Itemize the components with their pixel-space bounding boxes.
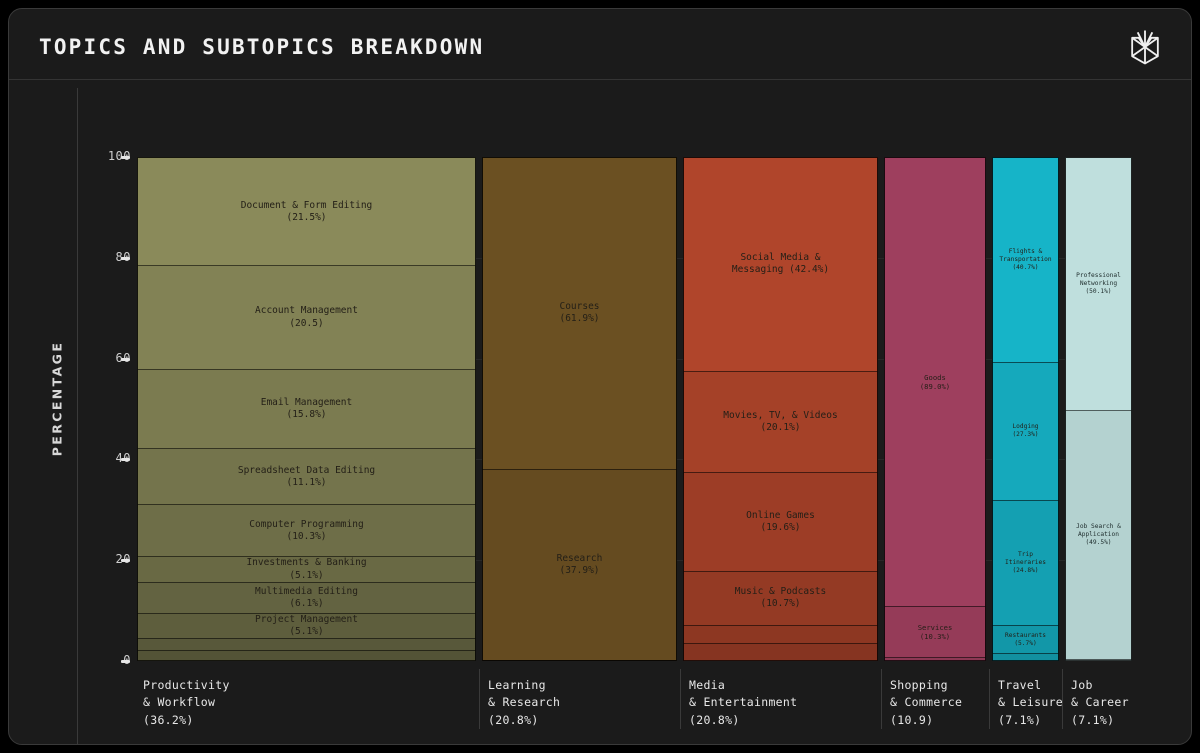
x-category-label: Media & Entertainment (20.8%) [689, 677, 797, 729]
chart-segment[interactable]: Job Search & Application (49.5%) [1065, 410, 1132, 659]
chart-segment[interactable]: Movies, TV, & Videos (20.1%) [683, 371, 878, 472]
chart-segment[interactable]: Music & Podcasts (10.7%) [683, 571, 878, 625]
segment-label: Trip Itineraries (24.8%) [1002, 551, 1049, 575]
chart-segment[interactable]: Professional Networking (50.1%) [1065, 157, 1132, 410]
chart-column[interactable]: Goods (89.0%)Services (10.3%) [884, 157, 986, 661]
segment-label: Computer Programming (10.3%) [246, 519, 366, 543]
x-category-label: Productivity & Workflow (36.2%) [143, 677, 230, 729]
segment-label: Lodging (27.3%) [1009, 423, 1041, 439]
chart-segment[interactable]: Restaurants (5.7%) [992, 625, 1059, 654]
chart-segment[interactable]: Project Management (5.1%) [137, 613, 476, 639]
segment-label: Social Media & Messaging (42.4%) [729, 252, 832, 276]
chart-segment[interactable] [137, 638, 476, 650]
x-category-label: Shopping & Commerce (10.9) [890, 677, 962, 729]
segment-label: Online Games (19.6%) [743, 510, 818, 534]
y-tick-mark [121, 458, 130, 461]
chart-segment[interactable]: Email Management (15.8%) [137, 369, 476, 449]
chart-segment[interactable]: Goods (89.0%) [884, 157, 986, 606]
chart-segment[interactable]: Services (10.3%) [884, 606, 986, 658]
chart-segment[interactable]: Lodging (27.3%) [992, 362, 1059, 500]
segment-label: Spreadsheet Data Editing (11.1%) [235, 465, 378, 489]
x-category-label: Job & Career (7.1%) [1071, 677, 1129, 729]
y-tick-mark [121, 358, 130, 361]
y-tick-mark [121, 156, 130, 159]
chart-segment[interactable] [482, 660, 677, 661]
chart-segment[interactable]: Flights & Transportation (40.7%) [992, 157, 1059, 362]
segment-label: Multimedia Editing (6.1%) [252, 586, 361, 610]
segment-label: Account Management (20.5) [252, 305, 361, 329]
chart-segment[interactable]: Computer Programming (10.3%) [137, 504, 476, 556]
chart-window: TOPICS AND SUBTOPICS BREAKDOWN PERCENTAG… [8, 8, 1192, 745]
chart-segment[interactable]: Spreadsheet Data Editing (11.1%) [137, 448, 476, 504]
segment-label: Professional Networking (50.1%) [1073, 272, 1124, 296]
x-axis-separator [479, 669, 480, 729]
chart-plot-area: 020406080100Document & Form Editing (21.… [9, 9, 1192, 745]
y-tick-mark [121, 660, 130, 663]
segment-label: Movies, TV, & Videos (20.1%) [720, 410, 840, 434]
chart-column[interactable]: Document & Form Editing (21.5%)Account M… [137, 157, 476, 661]
segment-label: Document & Form Editing (21.5%) [238, 200, 376, 224]
chart-segment[interactable]: Investments & Banking (5.1%) [137, 556, 476, 582]
x-category-label: Travel & Leisure (7.1%) [998, 677, 1063, 729]
x-axis-separator [989, 669, 990, 729]
y-tick-mark [121, 559, 130, 562]
segment-label: Services (10.3%) [915, 623, 956, 641]
chart-segment[interactable] [683, 625, 878, 644]
segment-label: Research (37.9%) [554, 553, 606, 577]
segment-label: Investments & Banking (5.1%) [243, 557, 369, 581]
chart-segment[interactable] [683, 643, 878, 661]
chart-column[interactable]: Flights & Transportation (40.7%)Lodging … [992, 157, 1059, 661]
chart-segment[interactable]: Document & Form Editing (21.5%) [137, 157, 476, 265]
segment-label: Goods (89.0%) [917, 373, 953, 391]
segment-label: Courses (61.9%) [556, 301, 602, 325]
chart-segment[interactable] [137, 650, 476, 661]
segment-label: Music & Podcasts (10.7%) [732, 586, 830, 610]
segment-label: Email Management (15.8%) [258, 397, 356, 421]
chart-segment[interactable]: Courses (61.9%) [482, 157, 677, 469]
x-category-label: Learning & Research (20.8%) [488, 677, 560, 729]
chart-segment[interactable] [992, 653, 1059, 661]
chart-segment[interactable]: Online Games (19.6%) [683, 472, 878, 571]
chart-column[interactable]: Social Media & Messaging (42.4%)Movies, … [683, 157, 878, 661]
chart-segment[interactable]: Research (37.9%) [482, 469, 677, 660]
chart-segment[interactable]: Multimedia Editing (6.1%) [137, 582, 476, 613]
chart-column[interactable]: Courses (61.9%)Research (37.9%) [482, 157, 677, 661]
chart-segment[interactable]: Social Media & Messaging (42.4%) [683, 157, 878, 371]
chart-segment[interactable]: Account Management (20.5) [137, 265, 476, 368]
chart-column[interactable]: Professional Networking (50.1%)Job Searc… [1065, 157, 1132, 661]
x-axis-separator [881, 669, 882, 729]
x-axis-separator [1062, 669, 1063, 729]
segment-label: Flights & Transportation (40.7%) [996, 248, 1054, 272]
x-axis-separator [680, 669, 681, 729]
segment-label: Restaurants (5.7%) [1002, 632, 1049, 648]
chart-segment[interactable]: Trip Itineraries (24.8%) [992, 500, 1059, 625]
y-tick-mark [121, 257, 130, 260]
segment-label: Job Search & Application (49.5%) [1073, 523, 1124, 547]
chart-segment[interactable] [884, 657, 986, 661]
chart-segment[interactable] [1065, 659, 1132, 661]
segment-label: Project Management (5.1%) [252, 614, 361, 638]
